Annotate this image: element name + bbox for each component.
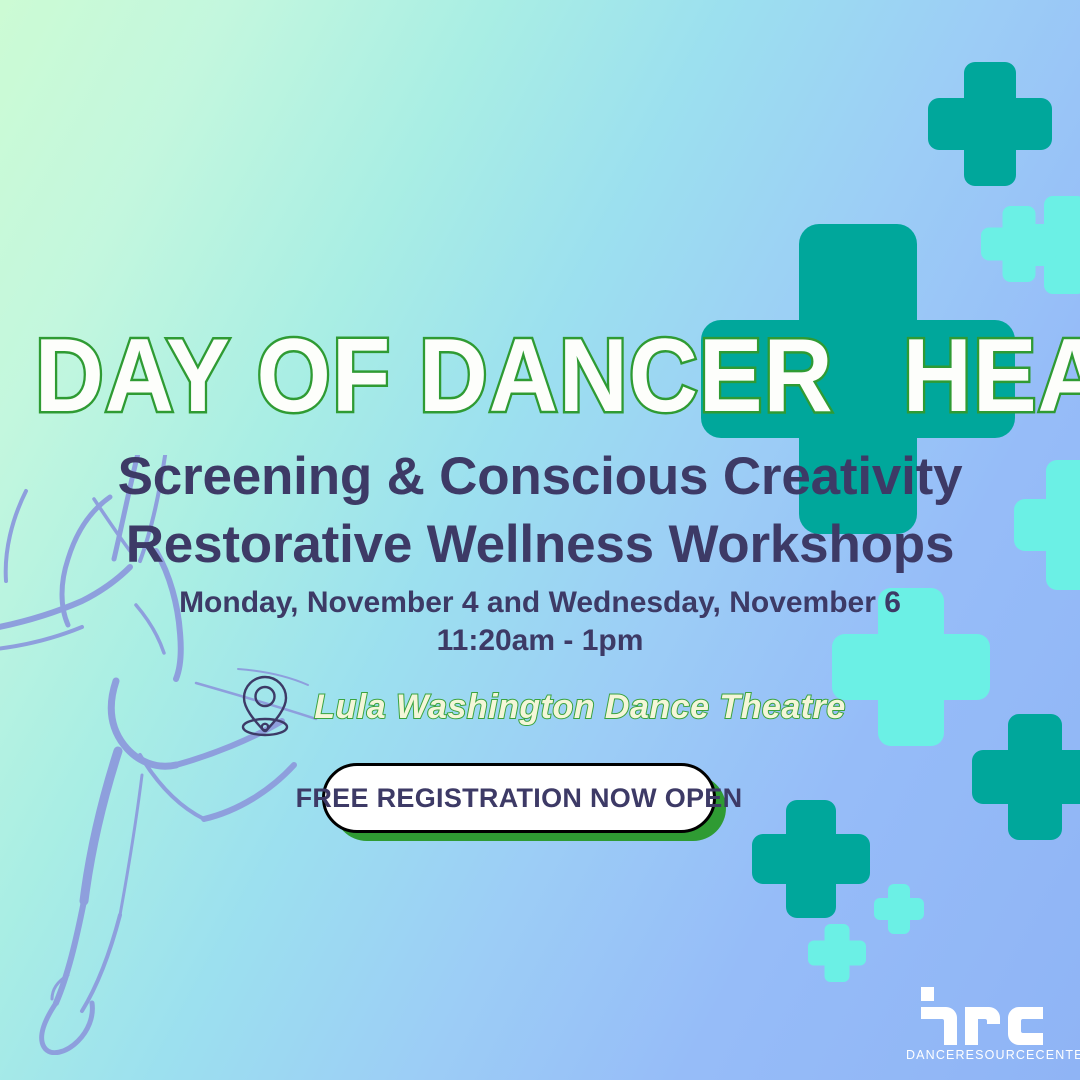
- venue-row: Lula Washington Dance Theatre: [0, 676, 1080, 738]
- cta-container: FREE REGISTRATION NOW OPEN: [322, 763, 726, 841]
- headline-main: DAY OF DANCER: [35, 324, 834, 428]
- cross-bar-horizontal: [928, 98, 1052, 150]
- cross-bar-horizontal: [874, 898, 924, 920]
- event-date: Monday, November 4 and Wednesday, Novemb…: [0, 586, 1080, 620]
- subtitle-line-1: Screening & Conscious Creativity: [0, 446, 1080, 507]
- venue-name: Lula Washington Dance Theatre: [314, 688, 846, 727]
- cross-bar-horizontal: [981, 228, 1057, 261]
- poster-canvas: DAY OF DANCERHEALTH Screening & Consciou…: [0, 0, 1080, 1080]
- page-title: DAY OF DANCERHEALTH: [0, 324, 1080, 428]
- cross-bar-horizontal: [808, 941, 866, 966]
- cross-mint-bottom: [808, 924, 866, 982]
- drc-logo: DANCERESOURCECENTER: [906, 987, 1058, 1062]
- cross-teal-bottom-left: [752, 800, 870, 918]
- location-pin-icon: [234, 672, 296, 738]
- cross-bar-horizontal: [752, 834, 870, 884]
- drc-logo-wordmark: DANCERESOURCECENTER: [906, 1048, 1058, 1062]
- free-registration-button[interactable]: FREE REGISTRATION NOW OPEN: [322, 763, 716, 833]
- headline-accent: HEALTH: [903, 324, 1080, 428]
- subtitle-line-2: Restorative Wellness Workshops: [0, 514, 1080, 575]
- drc-logo-mark: [919, 987, 1045, 1045]
- cross-mint-small-upper: [981, 206, 1057, 282]
- cross-teal-top-right: [928, 62, 1052, 186]
- cross-bar-horizontal: [972, 750, 1080, 804]
- event-time: 11:20am - 1pm: [0, 624, 1080, 658]
- cross-mint-tiny: [874, 884, 924, 934]
